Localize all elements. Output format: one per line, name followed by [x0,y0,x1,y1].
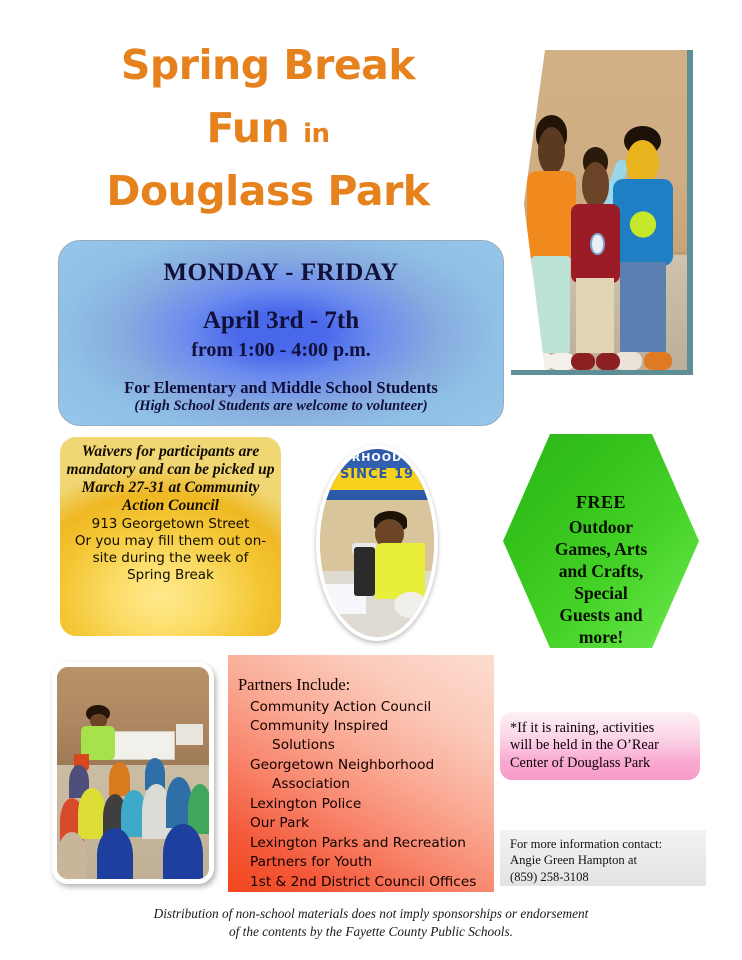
shoe-right [596,353,620,370]
schedule-box: MONDAY - FRIDAY April 3rd - 7th from 1:0… [58,240,504,426]
waiver-emphasis: Waivers for participants are mandatory a… [66,443,275,515]
title-line-3: Douglass Park [58,171,478,212]
free-line: Special [503,582,699,604]
waiver-box: Waivers for participants are mandatory a… [60,437,281,636]
list-item: Lexington Police [250,795,494,814]
waiver-alt-2: site during the week of [66,550,275,566]
list-item: Solutions [250,736,494,755]
microscope-body [354,547,375,596]
seated-child [78,788,105,839]
photo-microscope: RHOOD SINCE 19 [316,445,438,641]
seated-child [109,762,130,796]
banner-main-text: SINCE 19 [320,467,434,482]
pants [576,278,614,353]
page-title: Spring Break Fun in Douglass Park [58,45,478,212]
rain-line-2: will be held in the O’Rear [510,737,692,754]
seated-child-foreground [163,824,203,883]
waiver-address: 913 Georgetown Street [66,516,275,532]
contact-name: Angie Green Hampton at [510,852,700,868]
free-lines: Outdoor Games, Arts and Crafts, Special … [503,516,699,648]
flyer-page: Spring Break Fun in Douglass Park [0,0,742,960]
list-item: Our Park [250,814,494,833]
photo-kids-group [511,50,693,375]
yellow-shirt [375,543,425,599]
head [582,162,609,208]
photo-classroom [52,662,214,884]
rain-line-3: Center of Douglass Park [510,755,692,772]
peace-sign-graphic [629,199,658,250]
list-item: Association [250,775,494,794]
disclaimer: Distribution of non-school materials doe… [0,905,742,941]
badge [590,233,605,256]
contact-label: For more information contact: [510,836,700,852]
shoe-right [644,352,672,370]
schedule-days: MONDAY - FRIDAY [59,259,503,287]
child-red-shirt [569,162,622,370]
list-item: Community Inspired [250,717,494,736]
schedule-dates: April 3rd - 7th [59,307,503,335]
partners-list: Community Action Council Community Inspi… [238,698,494,893]
free-line: Games, Arts [503,538,699,560]
partners-box: Partners Include: Community Action Counc… [228,655,494,892]
banner-top-text: RHOOD [320,451,434,464]
list-item: Partners for Youth [250,853,494,872]
poster-board [112,731,175,761]
list-item: Georgetown Neighborhood [250,756,494,775]
title-line-2-main: Fun [206,104,289,152]
free-headline: FREE [503,492,699,513]
waiver-alt-3: Spring Break [66,567,275,583]
seated-child-foreground [97,828,133,883]
title-line-2: Fun in [58,108,478,149]
disclaimer-line-2: of the contents by the Fayette County Pu… [0,923,742,941]
contact-box: For more information contact: Angie Gree… [500,830,706,886]
contact-phone: (859) 258-3108 [510,869,700,885]
rain-contingency-note: *If it is raining, activities will be he… [500,712,700,780]
side-seat [176,724,203,745]
waiver-alt-1: Or you may fill them out on- [66,533,275,549]
head [538,127,565,176]
free-line: and Crafts, [503,560,699,582]
schedule-time: from 1:00 - 4:00 p.m. [59,339,503,362]
rain-line-1: *If it is raining, activities [510,720,692,737]
partners-heading: Partners Include: [238,677,494,694]
disclaimer-line-1: Distribution of non-school materials doe… [0,905,742,923]
schedule-note: (High School Students are welcome to vol… [59,398,503,415]
list-item: Community Action Council [250,698,494,717]
title-line-2-small: in [303,119,329,149]
schedule-audience: For Elementary and Middle School Student… [59,378,503,398]
title-line-1: Spring Break [58,45,478,86]
free-line: Outdoor [503,516,699,538]
free-line: Guests and [503,604,699,626]
list-item: Lexington Parks and Recreation [250,834,494,853]
free-activities-hexagon: FREE Outdoor Games, Arts and Crafts, Spe… [503,434,699,648]
shoe-left [571,353,595,370]
jeans [620,262,665,352]
free-line: more! [503,626,699,648]
child-blue-shirt-facepaint [613,140,673,370]
seated-child [57,832,87,883]
list-item: 1st & 2nd District Council Offices [250,873,494,892]
